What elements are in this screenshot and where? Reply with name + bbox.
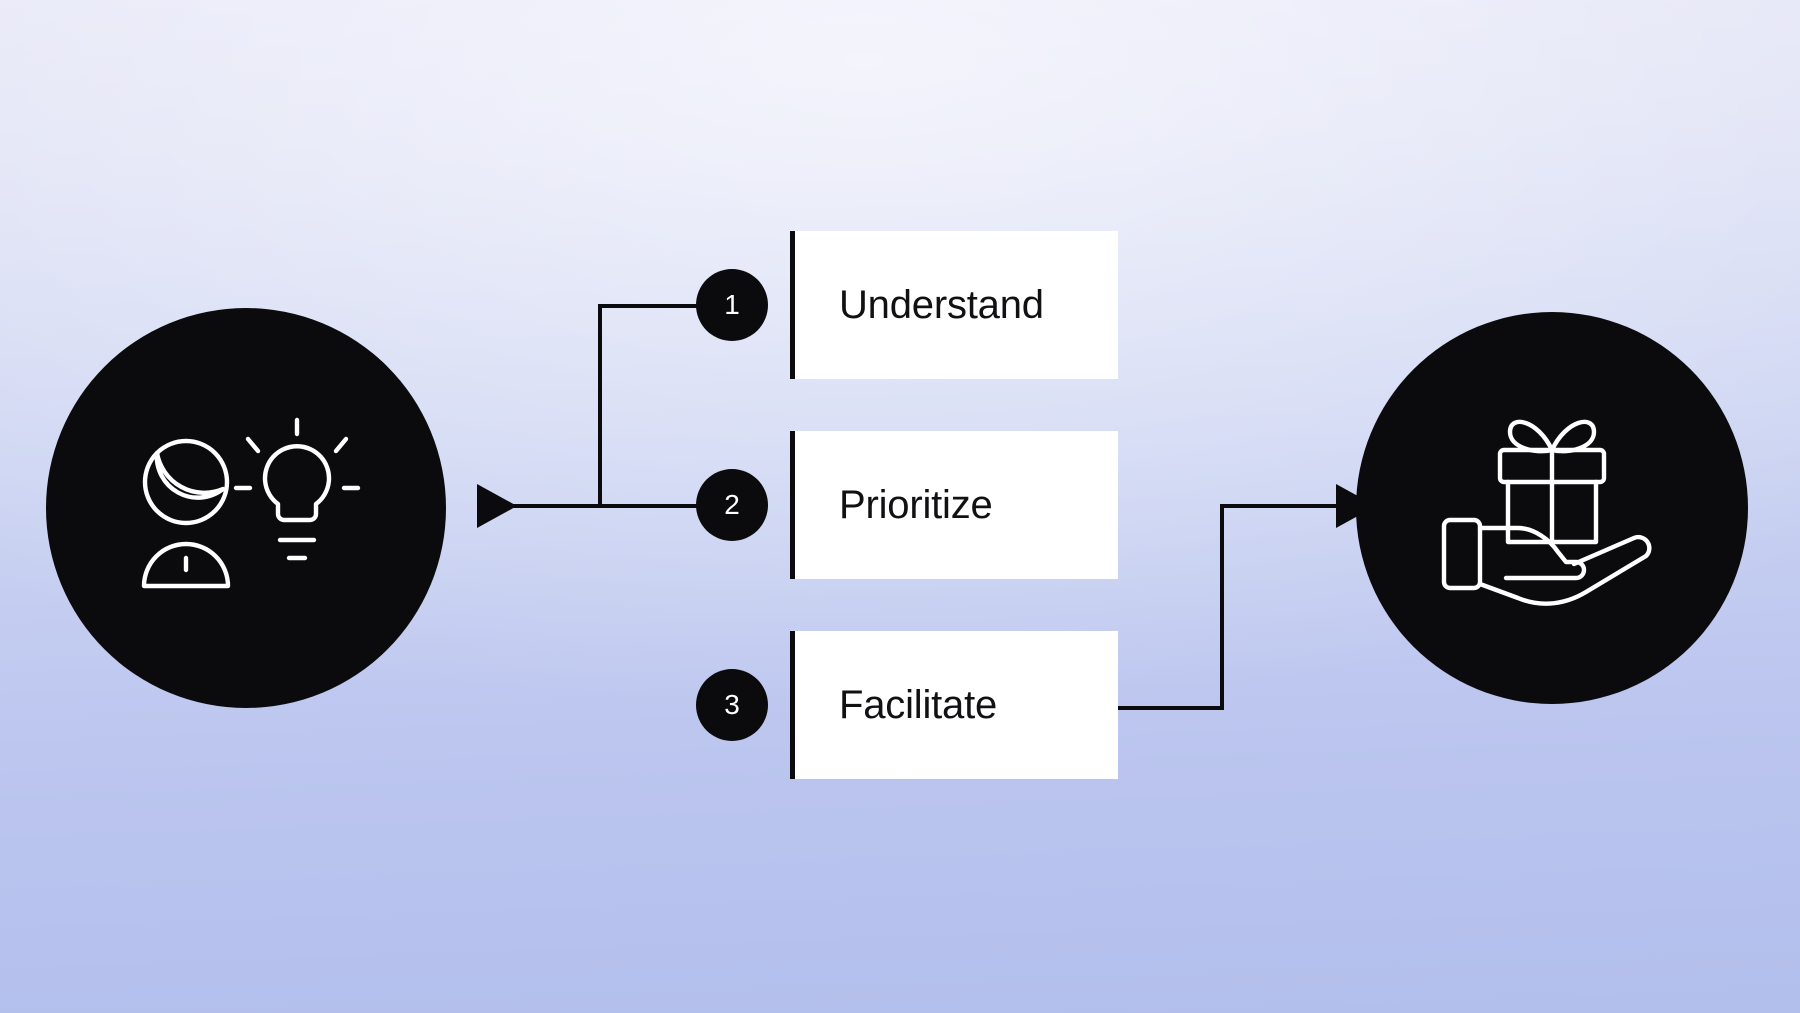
gift-in-hand-icon [1438, 406, 1666, 610]
step-card-2[interactable]: Prioritize [790, 431, 1118, 579]
step-label-3: Facilitate [839, 685, 997, 725]
person-with-lightbulb-icon [128, 408, 364, 608]
step-label-1: Understand [839, 285, 1044, 325]
connector-output-main [1118, 506, 1336, 708]
step-card-3[interactable]: Facilitate [790, 631, 1118, 779]
step-badge-1[interactable]: 1 [696, 269, 768, 341]
diagram-canvas: Understand Prioritize Facilitate 1 2 3 [0, 0, 1800, 1013]
step-card-1[interactable]: Understand [790, 231, 1118, 379]
connector-step1-branch [600, 306, 700, 506]
target-node[interactable] [1356, 312, 1748, 704]
source-node[interactable] [46, 308, 446, 708]
step-label-2: Prioritize [839, 485, 993, 525]
step-badge-2[interactable]: 2 [696, 469, 768, 541]
step-badge-3[interactable]: 3 [696, 669, 768, 741]
